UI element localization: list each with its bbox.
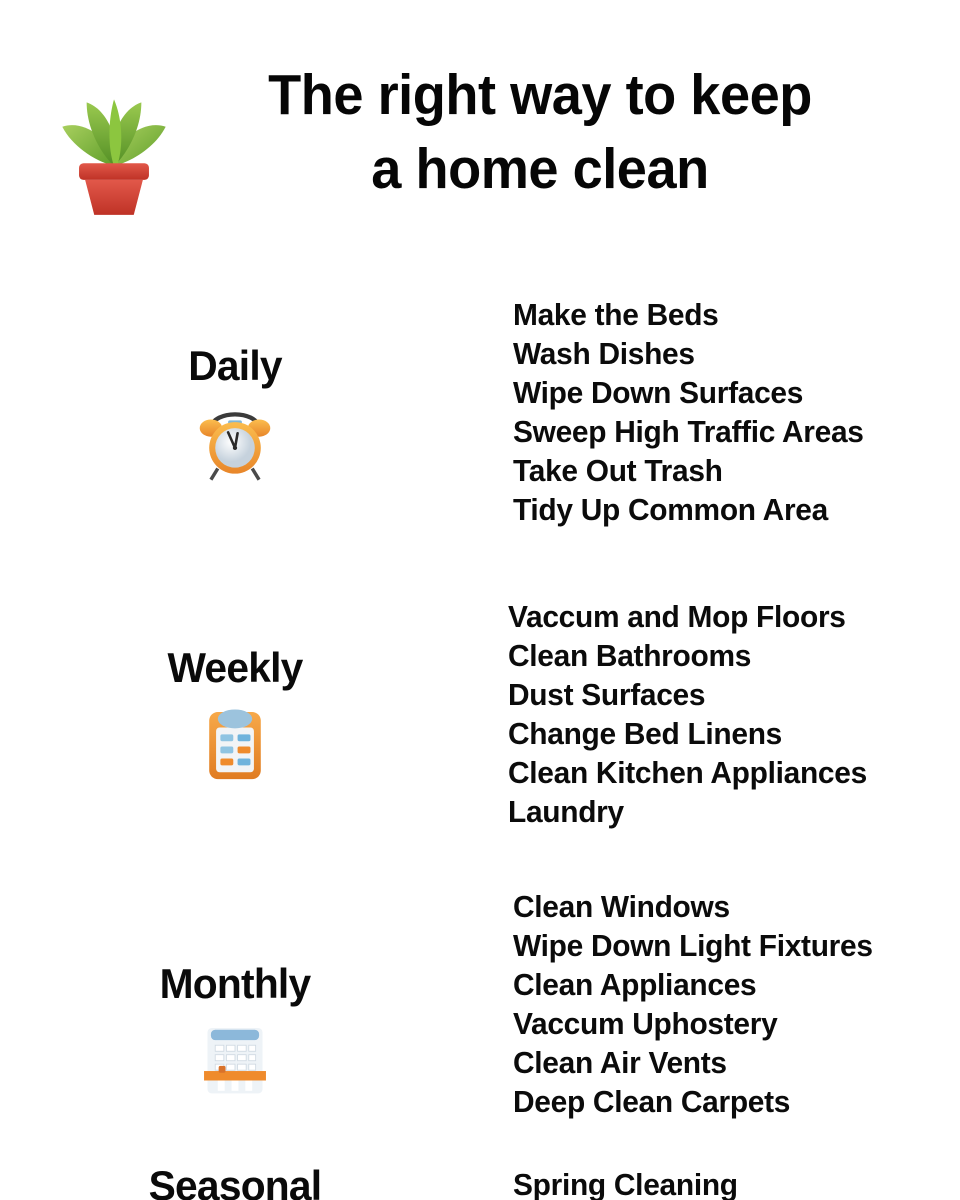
- task-item: Sweep High Traffic Areas: [513, 413, 864, 452]
- cleaning-schedule-page: The right way to keep a home clean Daily: [0, 0, 960, 1200]
- page-header: The right way to keep a home clean: [0, 58, 960, 218]
- section-seasonal: Seasonal Spring Cleaning: [0, 1160, 960, 1200]
- section-daily-header: Daily: [0, 340, 470, 484]
- potted-plant-icon: [38, 72, 190, 224]
- task-item: Dust Surfaces: [508, 676, 867, 715]
- section-monthly: Monthly: [0, 888, 960, 1148]
- section-daily: Daily: [0, 296, 960, 556]
- task-item: Clean Windows: [513, 888, 873, 927]
- section-weekly-task-list: Vaccum and Mop Floors Clean Bathrooms Du…: [508, 598, 874, 832]
- section-weekly-label: Weekly: [7, 642, 463, 694]
- task-item: Spring Cleaning: [513, 1166, 738, 1200]
- task-item: Change Bed Linens: [508, 715, 867, 754]
- task-item: Tidy Up Common Area: [513, 491, 864, 530]
- title-line-2: a home clean: [208, 132, 873, 206]
- page-title: The right way to keep a home clean: [208, 58, 873, 206]
- calendar-icon: [192, 1016, 278, 1102]
- section-daily-task-list: Make the Beds Wash Dishes Wipe Down Surf…: [513, 296, 871, 530]
- task-item: Wipe Down Light Fixtures: [513, 927, 873, 966]
- task-item: Vaccum Uphostery: [513, 1005, 873, 1044]
- task-item: Take Out Trash: [513, 452, 864, 491]
- task-item: Wash Dishes: [513, 335, 864, 374]
- section-weekly-header: Weekly: [0, 642, 470, 786]
- section-monthly-header: Monthly: [0, 958, 470, 1102]
- task-item: Clean Bathrooms: [508, 637, 867, 676]
- section-daily-label: Daily: [7, 340, 463, 392]
- task-item: Laundry: [508, 793, 867, 832]
- section-monthly-label: Monthly: [7, 958, 463, 1010]
- section-weekly: Weekly: [0, 598, 960, 858]
- title-line-1: The right way to keep: [208, 58, 873, 132]
- task-item: Clean Appliances: [513, 966, 873, 1005]
- task-item: Clean Kitchen Appliances: [508, 754, 867, 793]
- task-item: Wipe Down Surfaces: [513, 374, 864, 413]
- alarm-clock-icon: [192, 398, 278, 484]
- task-item: Make the Beds: [513, 296, 864, 335]
- section-seasonal-label: Seasonal: [7, 1160, 463, 1200]
- task-item: Clean Air Vents: [513, 1044, 873, 1083]
- task-item: Vaccum and Mop Floors: [508, 598, 867, 637]
- task-item: Deep Clean Carpets: [513, 1083, 873, 1122]
- section-seasonal-task-list: Spring Cleaning: [513, 1166, 742, 1200]
- section-monthly-task-list: Clean Windows Wipe Down Light Fixtures C…: [513, 888, 880, 1122]
- section-seasonal-header: Seasonal: [0, 1160, 470, 1200]
- clipboard-icon: [192, 700, 278, 786]
